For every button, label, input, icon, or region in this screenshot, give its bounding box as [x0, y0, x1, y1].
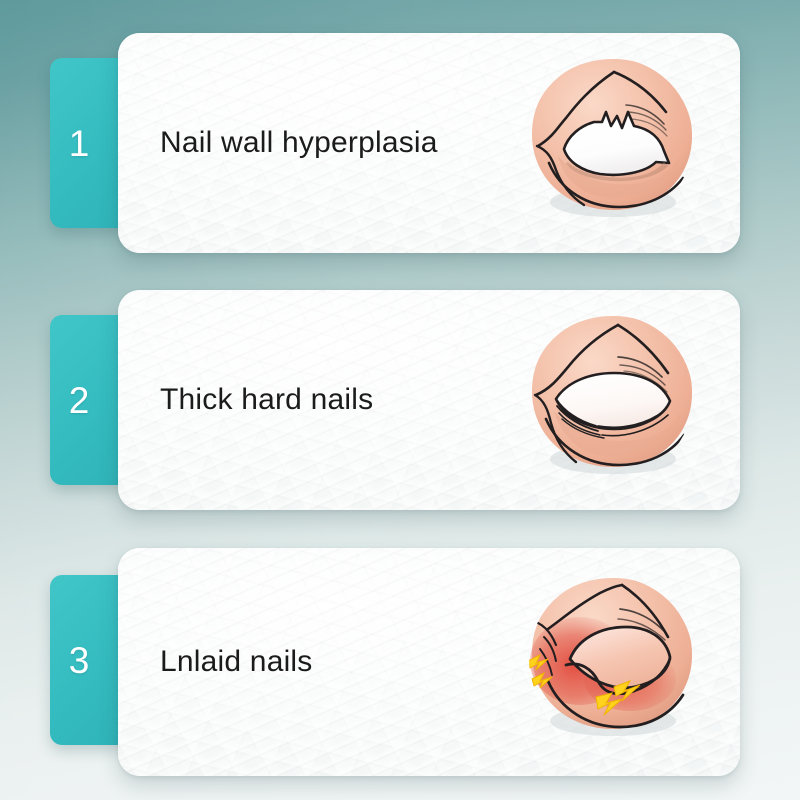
step-number-3: 3	[69, 642, 90, 679]
list-item: 1 Nail wall hyperplasia	[0, 33, 800, 255]
card-label-2: Thick hard nails	[160, 383, 373, 417]
list-item: 2 Thick hard nails	[0, 290, 800, 512]
info-card-1: Nail wall hyperplasia	[118, 33, 740, 253]
toe-with-ingrown-inflamed-nail-pain-icon	[518, 569, 704, 755]
card-label-1: Nail wall hyperplasia	[160, 126, 438, 160]
info-card-3: Lnlaid nails	[118, 548, 740, 776]
step-number-2: 2	[69, 382, 90, 419]
card-label-3: Lnlaid nails	[160, 645, 313, 679]
infographic-stage: 1 Nail wall hyperplasia	[0, 0, 800, 800]
step-number-1: 1	[69, 125, 90, 162]
toe-with-thick-layered-nail-icon	[518, 307, 704, 493]
info-card-2: Thick hard nails	[118, 290, 740, 510]
toe-with-cracked-overgrown-nail-wall-icon	[518, 50, 704, 236]
list-item: 3 Lnlaid nails	[0, 548, 800, 776]
